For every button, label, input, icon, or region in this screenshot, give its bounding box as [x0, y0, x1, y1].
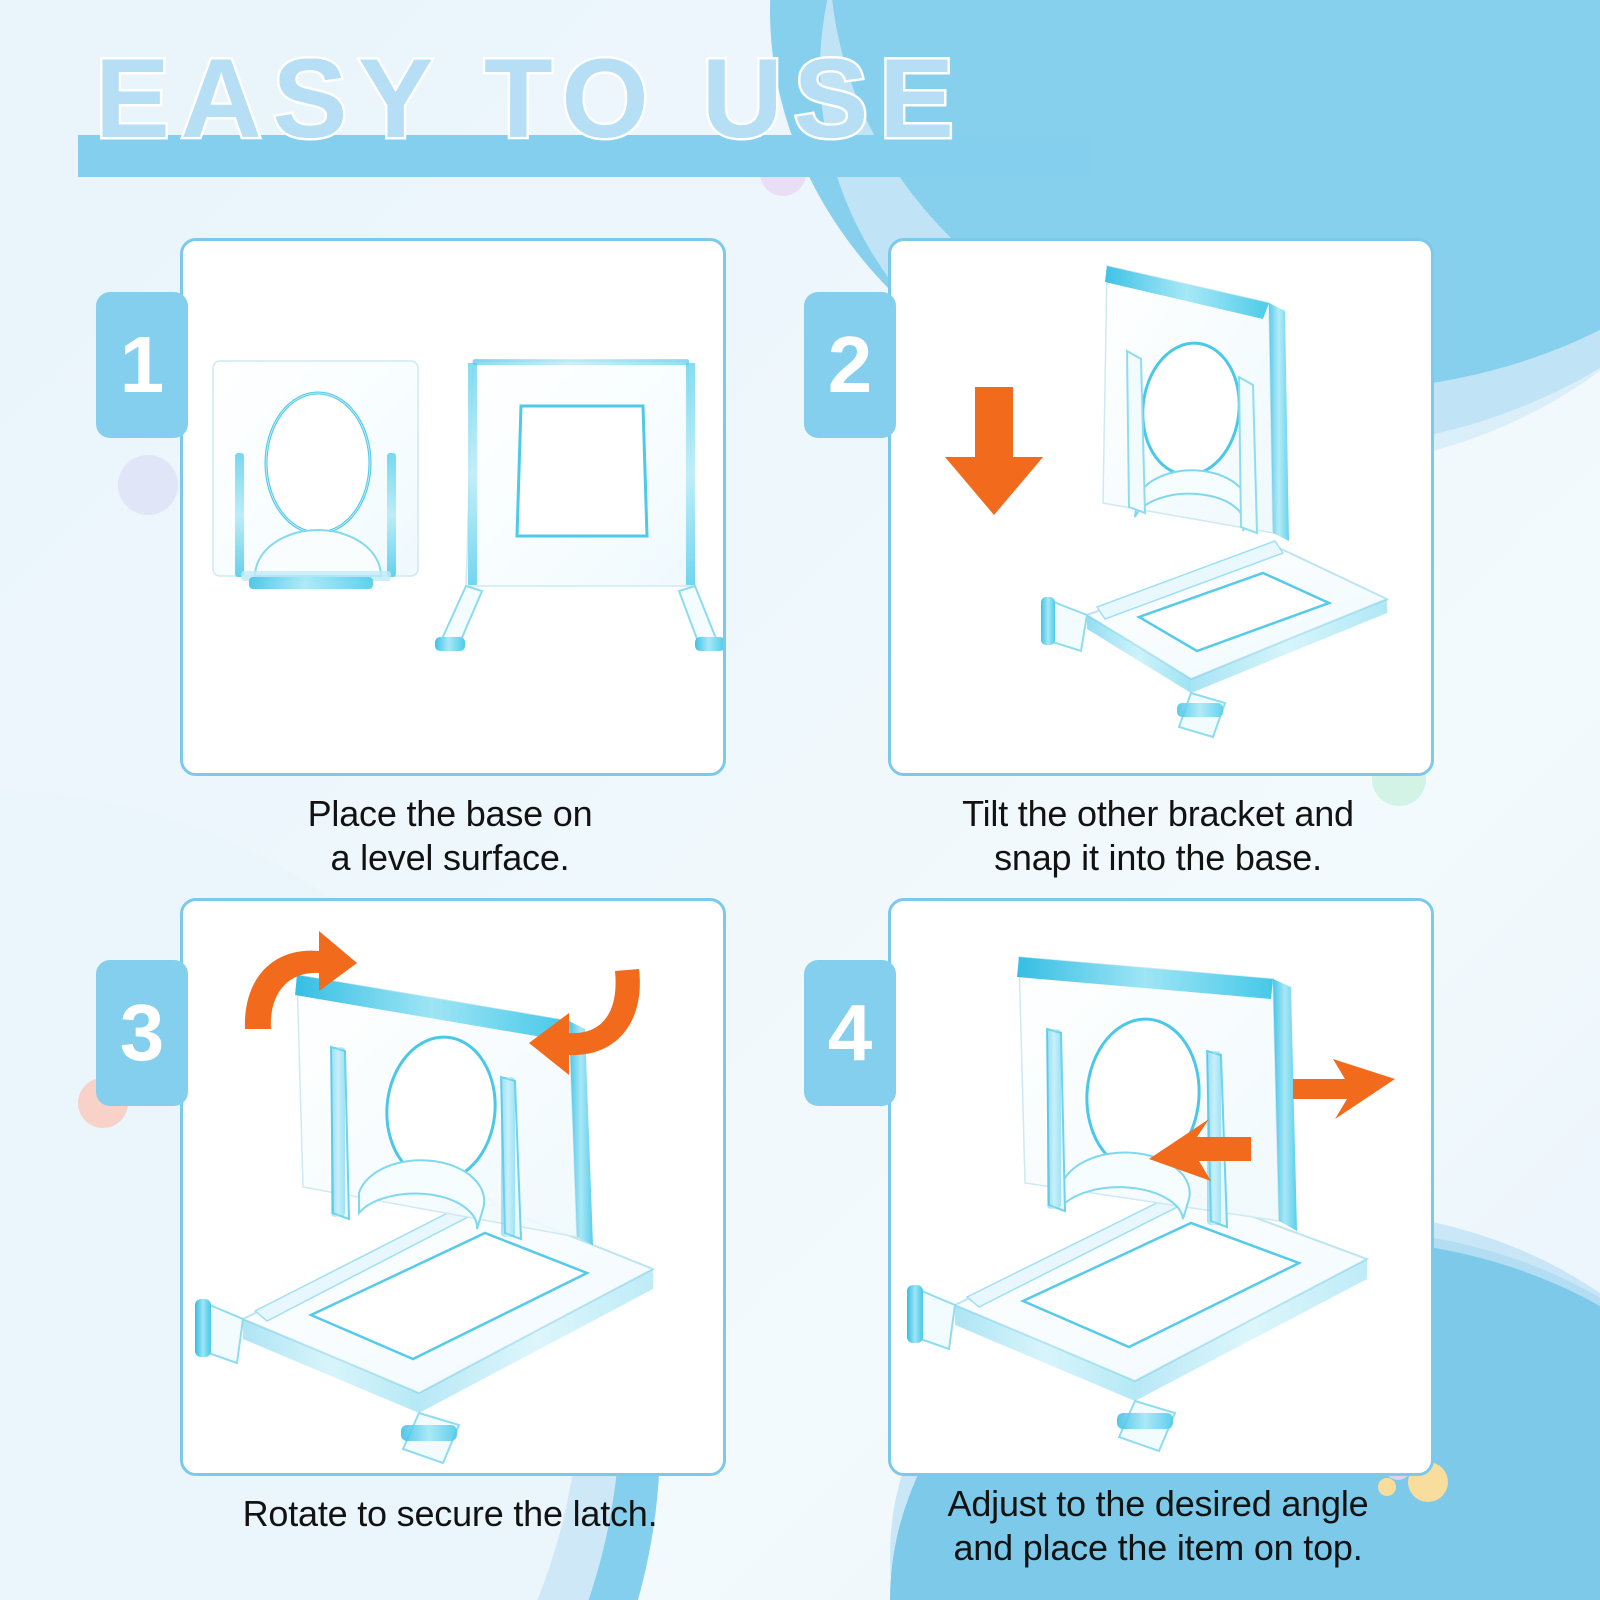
step-4-number: 4 [828, 987, 873, 1079]
base-piece-perspective [1041, 541, 1387, 737]
base-piece-front [435, 359, 725, 651]
rotate-right-arrow-icon [521, 965, 651, 1075]
step-1-illustration [183, 241, 723, 773]
step-2-number: 2 [828, 319, 873, 411]
step-1-number: 1 [120, 319, 165, 411]
push-right-arrow-icon [1289, 1053, 1401, 1133]
step-3-image-panel [180, 898, 726, 1476]
down-arrow-icon [939, 381, 1049, 521]
step-3-number: 3 [120, 987, 165, 1079]
push-left-arrow-icon [1143, 1119, 1255, 1199]
step-4-caption: Adjust to the desired angle and place th… [868, 1482, 1448, 1570]
step-2-number-badge: 2 [804, 292, 896, 438]
step-3-caption-line1: Rotate to secure the latch. [160, 1492, 740, 1536]
step-2-caption-line1: Tilt the other bracket and [868, 792, 1448, 836]
step-1-caption-line1: Place the base on [180, 792, 720, 836]
base-plate-adjust [907, 1187, 1367, 1451]
step-2-caption-line2: snap it into the base. [868, 836, 1448, 880]
step-1-caption-line2: a level surface. [180, 836, 720, 880]
step-1-image-panel [180, 238, 726, 776]
rotate-left-arrow-icon [231, 929, 361, 1039]
step-1-caption: Place the base on a level surface. [180, 792, 720, 880]
step-2-image-panel [888, 238, 1434, 776]
step-2-caption: Tilt the other bracket and snap it into … [868, 792, 1448, 880]
steps-grid: 1 Place the base on a level surface. [0, 0, 1600, 1600]
step-3-number-badge: 3 [96, 960, 188, 1106]
step-4-caption-line2: and place the item on top. [868, 1526, 1448, 1570]
bracket-piece-floating [1103, 266, 1289, 541]
acrylic-parts-svg [183, 241, 723, 773]
bracket-piece-front [213, 361, 418, 589]
step-1-number-badge: 1 [96, 292, 188, 438]
step-3-caption: Rotate to secure the latch. [160, 1492, 740, 1536]
step-4-image-panel [888, 898, 1434, 1476]
step-4-number-badge: 4 [804, 960, 896, 1106]
step-4-caption-line1: Adjust to the desired angle [868, 1482, 1448, 1526]
